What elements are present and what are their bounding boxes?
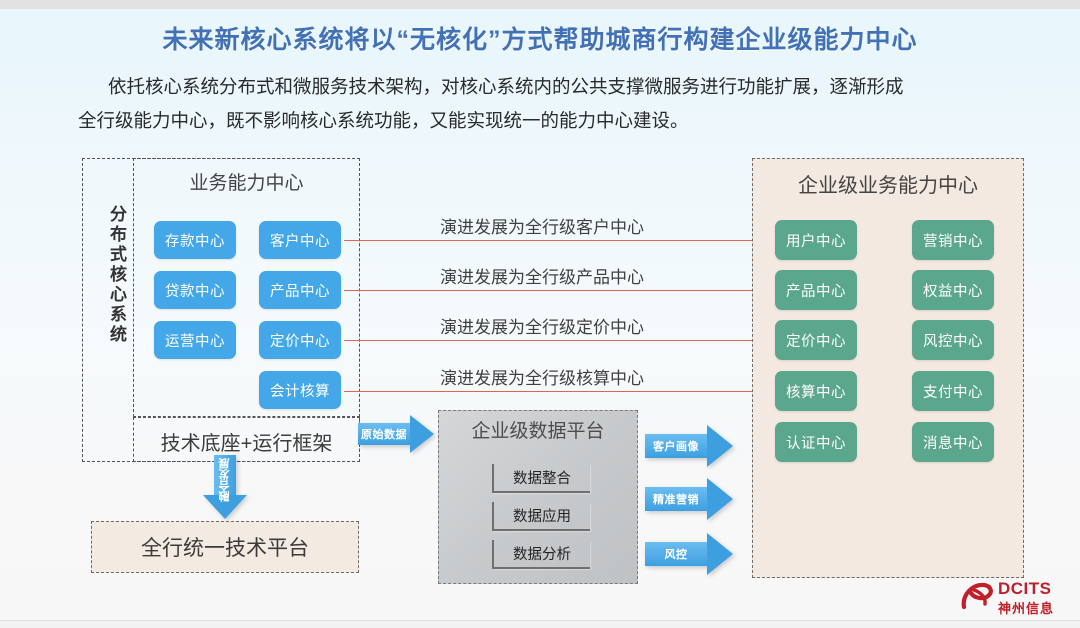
chip-user-center[interactable]: 用户中心 [775, 220, 857, 260]
logo-brand: DCITS [998, 579, 1052, 599]
data-item-application[interactable]: 数据应用 [492, 502, 590, 531]
chip-message-center[interactable]: 消息中心 [912, 422, 994, 462]
business-capability-center-heading: 业务能力中心 [133, 168, 360, 195]
chip-payment-center[interactable]: 支付中心 [912, 371, 994, 411]
chip-risk-center[interactable]: 风控中心 [912, 320, 994, 360]
chip-deposit-center[interactable]: 存款中心 [154, 221, 236, 259]
unified-tech-platform: 全行统一技术平台 [91, 521, 359, 573]
chip-operations-center[interactable]: 运营中心 [154, 321, 236, 359]
customer-profile-arrow-head-icon [707, 425, 733, 467]
enterprise-capability-center-heading: 企业级业务能力中心 [752, 169, 1024, 198]
chip-rights-center[interactable]: 权益中心 [912, 270, 994, 310]
risk-control-arrow-head-icon [707, 533, 733, 575]
subtitle-line-1: 依托核心系统分布式和微服务技术架构，对核心系统内的公共支撑微服务进行功能扩展，逐… [108, 76, 904, 97]
precision-marketing-arrow-label: 精准营销 [645, 487, 707, 511]
raw-data-arrow-head-icon [410, 415, 434, 453]
precision-marketing-arrow: 精准营销 [645, 478, 733, 520]
top-band [0, 0, 1080, 9]
risk-control-arrow-label: 风控 [645, 542, 707, 566]
customer-profile-arrow-label: 客户画像 [645, 434, 707, 458]
chip-product-center[interactable]: 产品中心 [259, 271, 341, 309]
evolution-label-3: 演进发展为全行级定价中心 [440, 313, 644, 338]
customer-profile-arrow: 客户画像 [645, 425, 733, 467]
evolution-line-1 [344, 240, 758, 241]
evolution-label-2: 演进发展为全行级产品中心 [440, 263, 644, 288]
chip-marketing-center[interactable]: 营销中心 [912, 220, 994, 260]
raw-data-arrow-label: 原始数据 [358, 423, 410, 445]
dcits-logo: DCITS 神州信息 [960, 578, 1072, 620]
data-item-integration[interactable]: 数据整合 [492, 464, 590, 493]
evolution-line-4 [344, 391, 758, 392]
raw-data-arrow: 原始数据 [358, 415, 434, 453]
distributed-core-system-label: 分布式核心系统 [92, 205, 128, 345]
chip-ent-product-center[interactable]: 产品中心 [775, 270, 857, 310]
evolution-label-4: 演进发展为全行级核算中心 [440, 364, 644, 389]
risk-control-arrow: 风控 [645, 533, 733, 575]
page-subtitle: 依托核心系统分布式和微服务技术架构，对核心系统内的公共支撑微服务进行功能扩展，逐… [78, 70, 1008, 138]
page-title: 未来新核心系统将以“无核化”方式帮助城商行构建企业级能力中心 [0, 20, 1080, 56]
chip-loan-center[interactable]: 贷款中心 [154, 271, 236, 309]
merge-development-arrow: 融合发展 [203, 455, 247, 519]
chip-auth-center[interactable]: 认证中心 [775, 422, 857, 462]
data-item-analysis[interactable]: 数据分析 [492, 540, 590, 569]
down-arrow-label: 融合发展 [212, 457, 238, 503]
chip-accounting[interactable]: 会计核算 [259, 371, 341, 409]
chip-accounting-center[interactable]: 核算中心 [775, 371, 857, 411]
dcits-swoosh-icon [960, 581, 994, 613]
evolution-label-1: 演进发展为全行级客户中心 [440, 213, 644, 238]
bottom-band [0, 620, 1080, 628]
subtitle-line-2: 全行级能力中心，既不影响核心系统功能，又能实现统一的能力中心建设。 [78, 110, 689, 131]
enterprise-data-platform-title: 企业级数据平台 [438, 416, 638, 443]
slide-canvas: 未来新核心系统将以“无核化”方式帮助城商行构建企业级能力中心 依托核心系统分布式… [0, 0, 1080, 628]
unified-tech-platform-label: 全行统一技术平台 [141, 532, 309, 562]
logo-brand-cn: 神州信息 [998, 598, 1054, 617]
evolution-line-3 [344, 340, 758, 341]
tech-base-label: 技术底座+运行框架 [133, 427, 360, 456]
evolution-line-2 [344, 290, 758, 291]
chip-pricing-center[interactable]: 定价中心 [259, 321, 341, 359]
precision-marketing-arrow-head-icon [707, 478, 733, 520]
chip-ent-pricing-center[interactable]: 定价中心 [775, 320, 857, 360]
chip-customer-center[interactable]: 客户中心 [259, 221, 341, 259]
